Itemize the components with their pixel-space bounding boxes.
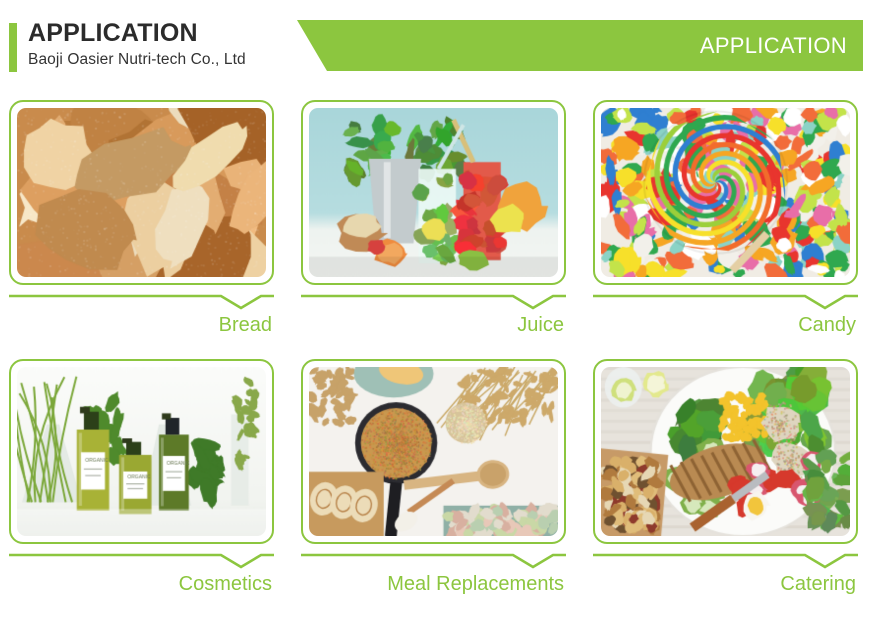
card-photo: [309, 108, 558, 277]
header-text-block: APPLICATION Baoji Oasier Nutri-tech Co.,…: [28, 18, 298, 71]
card-rule-with-notch: [301, 293, 566, 311]
application-card[interactable]: Candy: [593, 92, 858, 351]
application-card-grid: Bread Juice: [0, 92, 870, 629]
application-card[interactable]: Cosmetics: [9, 351, 274, 610]
banner-underline: [328, 66, 863, 70]
card-label: Cosmetics: [9, 570, 274, 598]
card-photo: [17, 108, 266, 277]
card-label: Catering: [593, 570, 858, 598]
card-rule-with-notch: [301, 552, 566, 570]
rule-notch-icon: [593, 552, 858, 570]
card-image-frame: [593, 100, 858, 285]
card-photo: [601, 108, 850, 277]
rule-notch-icon: [593, 293, 858, 311]
card-row-1: Bread Juice: [0, 92, 870, 351]
banner-label: APPLICATION: [700, 20, 847, 71]
card-label: Candy: [593, 311, 858, 339]
rule-notch-icon: [301, 552, 566, 570]
application-card[interactable]: Juice: [301, 92, 566, 351]
page-header: APPLICATION Baoji Oasier Nutri-tech Co.,…: [0, 0, 870, 92]
header-banner: APPLICATION: [297, 20, 863, 71]
card-image-frame: [593, 359, 858, 544]
card-rule-with-notch: [9, 552, 274, 570]
application-card[interactable]: Catering: [593, 351, 858, 610]
card-image-frame: [9, 100, 274, 285]
card-photo: [601, 367, 850, 536]
card-label: Juice: [301, 311, 566, 339]
card-photo: [17, 367, 266, 536]
rule-notch-icon: [9, 293, 274, 311]
rule-notch-icon: [9, 552, 274, 570]
card-image-frame: [301, 100, 566, 285]
card-rule-with-notch: [593, 552, 858, 570]
card-rule-with-notch: [593, 293, 858, 311]
card-label: Bread: [9, 311, 274, 339]
card-row-2: Cosmetics Meal Replacements: [0, 351, 870, 610]
rule-notch-icon: [301, 293, 566, 311]
application-card[interactable]: Meal Replacements: [301, 351, 566, 610]
card-label: Meal Replacements: [301, 570, 566, 598]
company-name: Baoji Oasier Nutri-tech Co., Ltd: [28, 49, 298, 71]
application-card[interactable]: Bread: [9, 92, 274, 351]
header-accent-bar: [9, 23, 17, 72]
card-image-frame: [9, 359, 274, 544]
application-page: APPLICATION Baoji Oasier Nutri-tech Co.,…: [0, 0, 870, 629]
card-rule-with-notch: [9, 293, 274, 311]
page-title: APPLICATION: [28, 18, 298, 48]
card-photo: [309, 367, 558, 536]
card-image-frame: [301, 359, 566, 544]
